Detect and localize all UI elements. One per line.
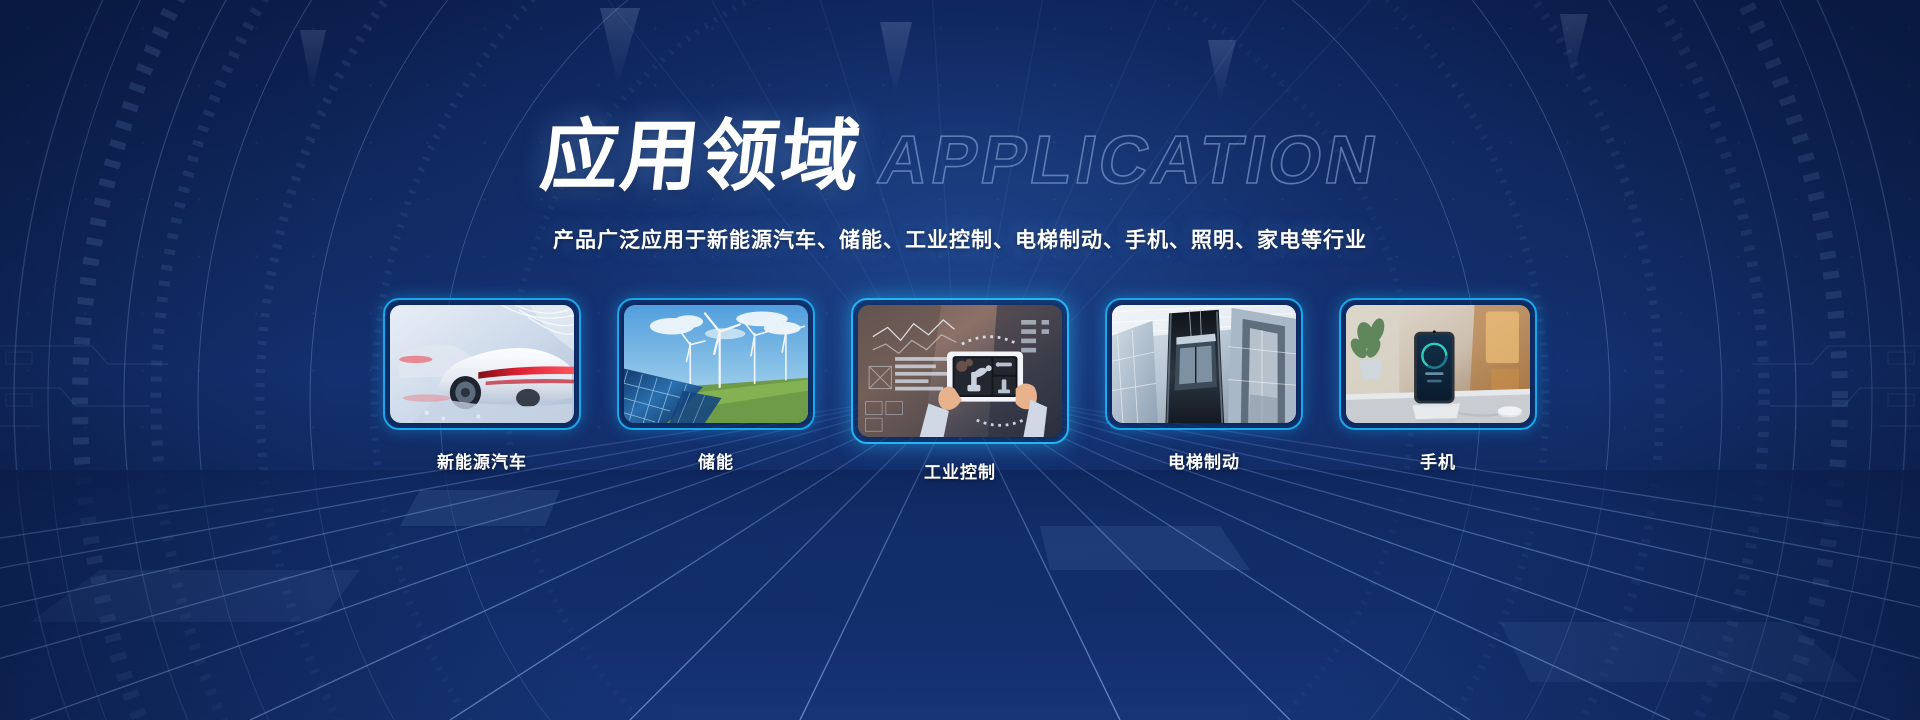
banner-content: 应用领域 APPLICATION 产品广泛应用于新能源汽车、储能、工业控制、电梯… xyxy=(0,0,1920,720)
card-label: 电梯制动 xyxy=(1168,448,1240,473)
mobile-phone-photo xyxy=(1346,305,1530,423)
page-title: 应用领域 xyxy=(537,118,865,198)
card-label: 新能源汽车 xyxy=(437,448,527,473)
application-card-mobile-phone[interactable]: 手机 xyxy=(1339,298,1537,473)
card-frame xyxy=(851,298,1069,444)
application-card-energy-storage[interactable]: 储能 xyxy=(617,298,815,473)
application-card-elevator-braking[interactable]: 电梯制动 xyxy=(1105,298,1303,473)
card-frame xyxy=(617,298,815,430)
banner-subtitle: 产品广泛应用于新能源汽车、储能、工业控制、电梯制动、手机、照明、家电等行业 xyxy=(0,224,1920,254)
card-label: 工业控制 xyxy=(924,458,996,483)
application-card-new-energy-vehicle[interactable]: 新能源汽车 xyxy=(383,298,581,473)
new-energy-vehicle-photo xyxy=(390,305,574,423)
application-banner: 应用领域 APPLICATION 产品广泛应用于新能源汽车、储能、工业控制、电梯… xyxy=(0,0,1920,720)
elevator-braking-photo xyxy=(1112,305,1296,423)
industrial-control-photo xyxy=(858,305,1062,437)
card-label: 手机 xyxy=(1420,448,1456,473)
energy-storage-photo xyxy=(624,305,808,423)
card-label: 储能 xyxy=(698,448,734,473)
page-title-english: APPLICATION xyxy=(873,126,1386,198)
card-frame xyxy=(1339,298,1537,430)
card-frame xyxy=(383,298,581,430)
application-card-list: 新能源汽车 xyxy=(0,298,1920,483)
banner-title-row: 应用领域 APPLICATION xyxy=(0,118,1920,198)
card-frame xyxy=(1105,298,1303,430)
application-card-industrial-control[interactable]: 工业控制 xyxy=(851,298,1069,483)
